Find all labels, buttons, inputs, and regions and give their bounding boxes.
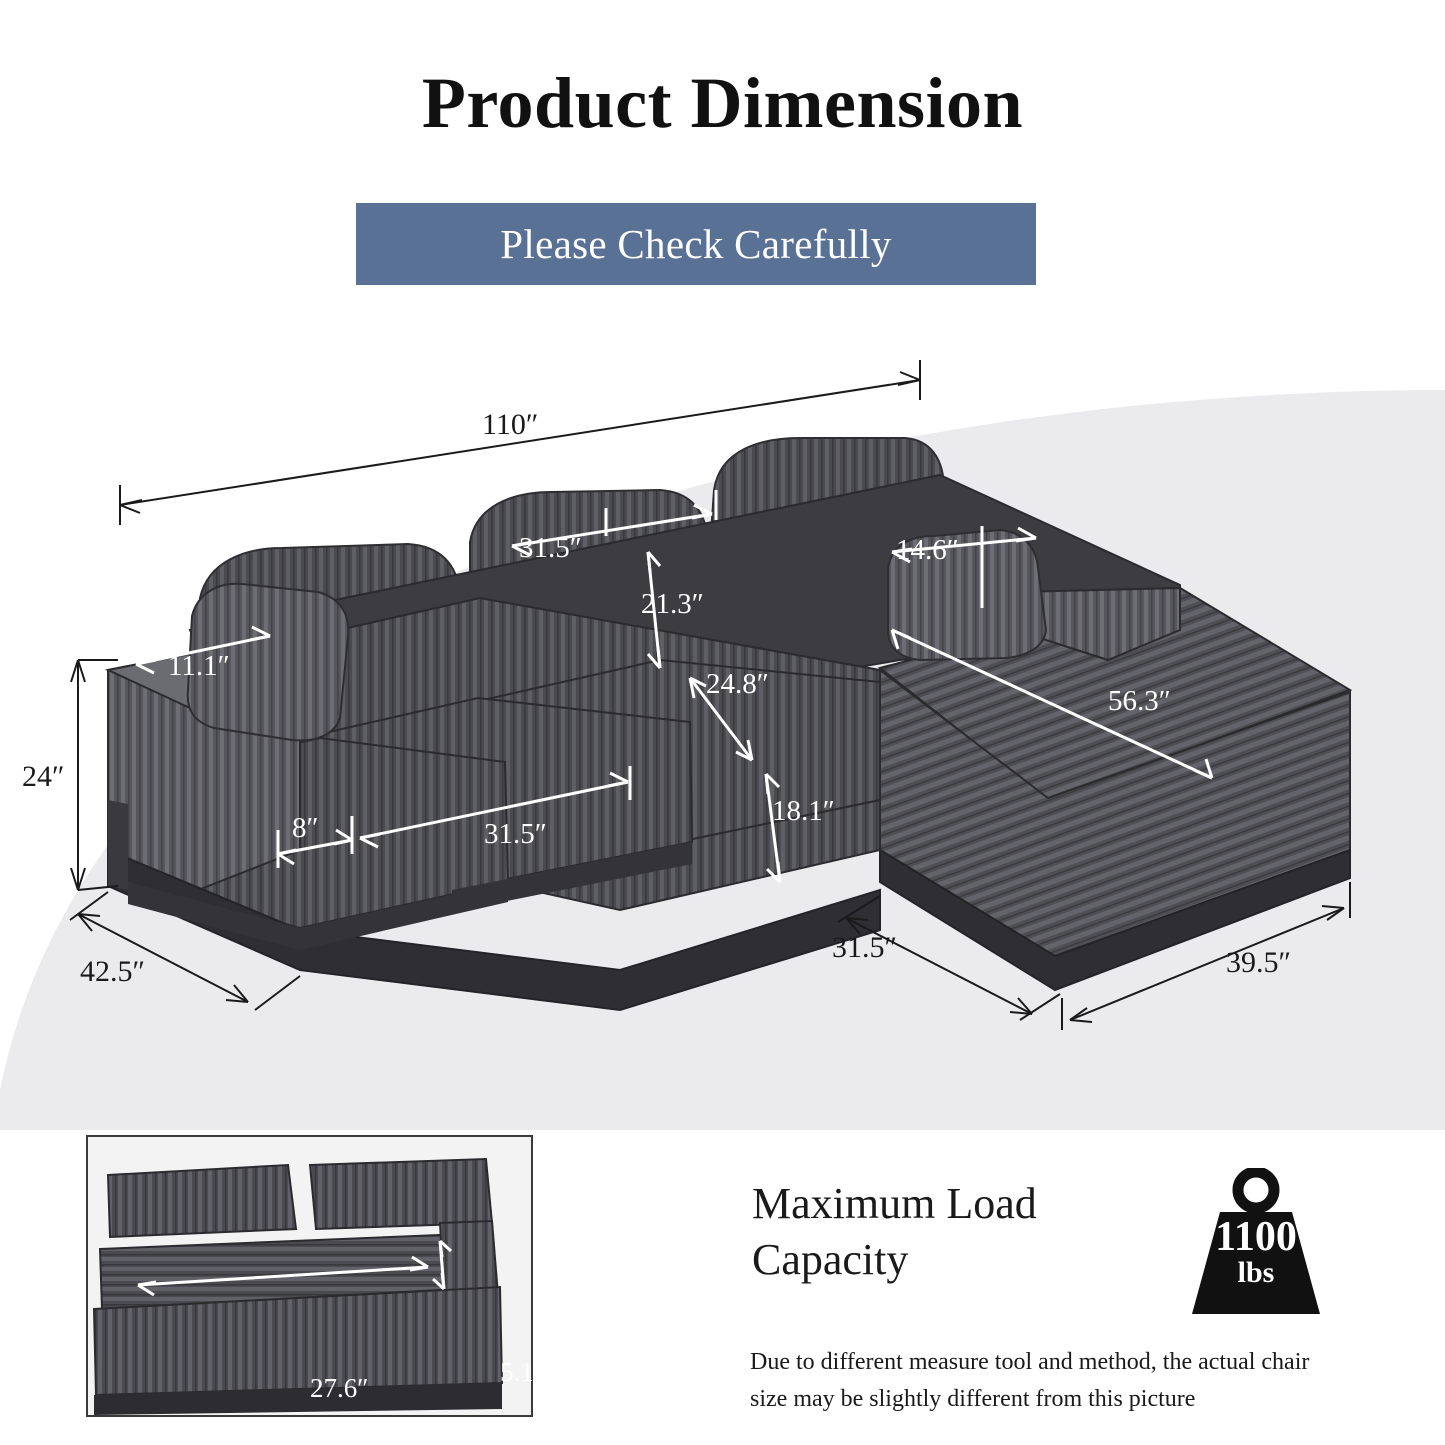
sofa-illustration xyxy=(0,330,1445,1120)
dim-armrest-width: 11.1″ xyxy=(168,650,230,683)
dim-seat-cushion-width: 31.5″ xyxy=(484,818,547,851)
disclaimer-line2: size may be slightly different from this… xyxy=(750,1381,1350,1418)
dim-chaise-depth: 31.5″ xyxy=(832,931,897,965)
subtitle-banner: Please Check Carefully xyxy=(356,203,1036,285)
dim-corner-pillow-width: 14.6″ xyxy=(896,534,959,567)
disclaimer-line1: Due to different measure tool and method… xyxy=(750,1344,1350,1381)
dim-overall-height: 24″ xyxy=(22,760,65,794)
dim-armrest-thickness: 8″ xyxy=(292,812,319,845)
max-load-title: Maximum Load Capacity xyxy=(752,1176,1172,1289)
max-load-unit: lbs xyxy=(1180,1256,1332,1290)
dim-cushion-depth: 27.6″ xyxy=(310,1373,369,1404)
dim-seat-depth-total: 24.8″ xyxy=(706,668,769,701)
disclaimer: Due to different measure tool and method… xyxy=(750,1344,1350,1418)
page-title: Product Dimension xyxy=(0,62,1445,145)
dim-overall-depth: 42.5″ xyxy=(80,955,145,989)
max-load-value: 1100 xyxy=(1180,1213,1332,1261)
dim-cushion-thickness: 5.1″ xyxy=(500,1357,545,1388)
dim-backrest-cushion-width: 31.5″ xyxy=(519,532,582,565)
dim-backrest-height: 21.3″ xyxy=(641,588,704,621)
dim-seat-height: 18.1″ xyxy=(772,795,835,828)
max-load-title-line1: Maximum Load xyxy=(752,1176,1172,1232)
subtitle-text: Please Check Carefully xyxy=(500,220,891,268)
dim-overall-width: 110″ xyxy=(482,408,538,442)
product-dimension-page: Product Dimension Please Check Carefully xyxy=(0,0,1445,1445)
dim-chaise-length: 56.3″ xyxy=(1108,685,1171,718)
max-load-title-line2: Capacity xyxy=(752,1232,1172,1288)
dim-chaise-width: 39.5″ xyxy=(1226,946,1291,980)
